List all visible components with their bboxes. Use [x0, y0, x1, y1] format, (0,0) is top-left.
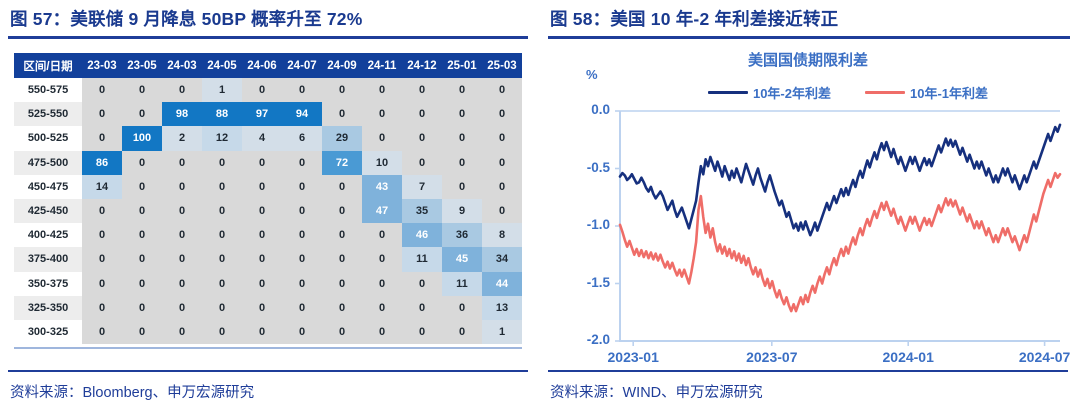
table-column-header: 24-07: [282, 53, 322, 78]
table-cell: 0: [242, 151, 282, 175]
table-cell: 0: [402, 272, 442, 296]
table-cell: 0: [482, 102, 522, 126]
figure-57-title-rule: [8, 36, 528, 39]
table-cell: 0: [242, 175, 282, 199]
table-cell: 0: [122, 223, 162, 247]
table-cell: 0: [322, 296, 362, 320]
table-row: 425-4500000000473590: [14, 199, 522, 223]
table-cell: 0: [362, 126, 402, 150]
table-cell: 0: [442, 320, 482, 344]
x-axis-tick-label: 2024-07: [1019, 349, 1070, 365]
table-column-header: 23-05: [122, 53, 162, 78]
table-cell: 0: [322, 199, 362, 223]
table-cell: 0: [242, 296, 282, 320]
y-axis-tick-label: -1.0: [564, 217, 610, 232]
table-cell: 0: [82, 296, 122, 320]
table-row: 475-50086000007210000: [14, 151, 522, 175]
table-cell: 0: [442, 102, 482, 126]
table-cell: 0: [402, 126, 442, 150]
table-cell: 0: [202, 247, 242, 271]
legend-label-series2: 10年-1年利差: [910, 83, 988, 102]
table-cell: 11: [442, 272, 482, 296]
table-cell: 35: [402, 199, 442, 223]
table-cell: 0: [482, 151, 522, 175]
table-cell: 0: [282, 151, 322, 175]
table-cell: 0: [362, 320, 402, 344]
table-cell: 0: [242, 223, 282, 247]
table-row-label: 400-425: [14, 223, 82, 247]
table-cell: 0: [82, 199, 122, 223]
table-cell: 0: [322, 320, 362, 344]
table-cell: 0: [162, 296, 202, 320]
table-cell: 0: [322, 272, 362, 296]
rate-probability-table: 区间/日期23-0323-0524-0324-0524-0624-0724-09…: [14, 53, 522, 344]
table-row-label: 300-325: [14, 320, 82, 344]
table-cell: 0: [202, 272, 242, 296]
table-cell: 0: [282, 223, 322, 247]
table-cell: 0: [362, 296, 402, 320]
table-cell: 0: [122, 272, 162, 296]
table-cell: 0: [242, 320, 282, 344]
table-cell: 0: [282, 247, 322, 271]
table-cell: 14: [82, 175, 122, 199]
table-body: 550-57500010000000525-550009888979400000…: [14, 78, 522, 344]
table-cell: 0: [122, 320, 162, 344]
table-cell: 0: [442, 126, 482, 150]
table-cell: 0: [482, 199, 522, 223]
chart-axes: [615, 111, 1060, 346]
table-cell: 0: [122, 102, 162, 126]
table-row-label: 375-400: [14, 247, 82, 271]
table-cell: 0: [362, 272, 402, 296]
chart-title: 美国国债期限利差: [548, 49, 1068, 70]
table-cell: 0: [322, 78, 362, 102]
y-axis-unit-label: %: [586, 67, 598, 82]
table-row: 500-525010021246290000: [14, 126, 522, 150]
table-row: 375-40000000000114534: [14, 247, 522, 271]
table-cell: 47: [362, 199, 402, 223]
table-cell: 0: [362, 102, 402, 126]
table-cell: 8: [482, 223, 522, 247]
table-cell: 1: [482, 320, 522, 344]
table-cell: 94: [282, 102, 322, 126]
table-cell: 0: [162, 175, 202, 199]
table-row: 450-4751400000043700: [14, 175, 522, 199]
legend-item-series2: 10年-1年利差: [865, 83, 988, 102]
legend-swatch-series2: [865, 91, 905, 94]
table-cell: 0: [122, 175, 162, 199]
table-cell: 0: [82, 102, 122, 126]
table-cell: 0: [362, 247, 402, 271]
table-cell: 0: [242, 78, 282, 102]
table-cell: 0: [402, 151, 442, 175]
table-cell: 4: [242, 126, 282, 150]
table-cell: 0: [162, 320, 202, 344]
table-header-row: 区间/日期23-0323-0524-0324-0524-0624-0724-09…: [14, 53, 522, 78]
table-cell: 0: [482, 175, 522, 199]
table-cell: 0: [162, 247, 202, 271]
table-cell: 0: [482, 126, 522, 150]
table-row: 350-3750000000001144: [14, 272, 522, 296]
y-axis-tick-label: -2.0: [564, 332, 610, 347]
figure-58-source: 资料来源：WIND、申万宏源研究: [550, 381, 763, 402]
table-row: 525-550009888979400000: [14, 102, 522, 126]
table-column-header: 24-06: [242, 53, 282, 78]
legend-item-series1: 10年-2年利差: [708, 83, 831, 102]
figure-58-caption: 图 58：美国 10 年-2 年利差接近转正: [548, 0, 1070, 36]
table-cell: 0: [82, 247, 122, 271]
table-row-label: 525-550: [14, 102, 82, 126]
table-row: 325-350000000000013: [14, 296, 522, 320]
table-cell: 0: [402, 320, 442, 344]
table-cell: 0: [162, 272, 202, 296]
table-row: 550-57500010000000: [14, 78, 522, 102]
x-axis-tick-label: 2023-07: [746, 349, 797, 365]
table-column-header: 24-11: [362, 53, 402, 78]
table-cell: 72: [322, 151, 362, 175]
figure-57-source: 资料来源：Bloomberg、申万宏源研究: [10, 381, 254, 402]
table-cell: 0: [442, 175, 482, 199]
table-cell: 44: [482, 272, 522, 296]
legend-swatch-series1: [708, 91, 748, 94]
table-cell: 0: [82, 126, 122, 150]
table-cell: 0: [122, 78, 162, 102]
table-cell: 0: [402, 102, 442, 126]
table-cell: 29: [322, 126, 362, 150]
table-bottom-rule: [14, 347, 522, 349]
table-cell: 0: [162, 199, 202, 223]
table-cell: 0: [282, 175, 322, 199]
y-axis-tick-label: -0.5: [564, 160, 610, 175]
table-cell: 36: [442, 223, 482, 247]
table-row: 400-4250000000046368: [14, 223, 522, 247]
table-cell: 0: [202, 175, 242, 199]
table-row-label: 550-575: [14, 78, 82, 102]
table-cell: 0: [282, 320, 322, 344]
x-axis-tick-label: 2024-01: [882, 349, 933, 365]
figure-58-panel: 图 58：美国 10 年-2 年利差接近转正 美国国债期限利差 % 10年-2年…: [540, 0, 1080, 410]
table-cell: 2: [162, 126, 202, 150]
table-cell: 12: [202, 126, 242, 150]
table-cell: 0: [202, 320, 242, 344]
table-row-label: 425-450: [14, 199, 82, 223]
table-column-header: 24-03: [162, 53, 202, 78]
table-row: 300-32500000000001: [14, 320, 522, 344]
table-cell: 0: [322, 175, 362, 199]
table-cell: 0: [202, 151, 242, 175]
table-cell: 0: [282, 78, 322, 102]
table-cell: 0: [482, 78, 522, 102]
table-cell: 100: [122, 126, 162, 150]
table-cell: 13: [482, 296, 522, 320]
table-cell: 98: [162, 102, 202, 126]
table-column-header: 24-05: [202, 53, 242, 78]
table-cell: 7: [402, 175, 442, 199]
figure-57-caption: 图 57：美联储 9 月降息 50BP 概率升至 72%: [8, 0, 528, 36]
table-row-label: 475-500: [14, 151, 82, 175]
table-cell: 45: [442, 247, 482, 271]
chart-legend: 10年-2年利差 10年-1年利差: [640, 83, 1056, 102]
table-cell: 43: [362, 175, 402, 199]
table-row-label: 350-375: [14, 272, 82, 296]
table-cell: 11: [402, 247, 442, 271]
table-cell: 0: [362, 223, 402, 247]
table-cell: 0: [162, 151, 202, 175]
table-cell: 0: [202, 223, 242, 247]
figure-pair-page: 图 57：美联储 9 月降息 50BP 概率升至 72% 区间/日期23-032…: [0, 0, 1080, 410]
table-row-label: 450-475: [14, 175, 82, 199]
table-cell: 97: [242, 102, 282, 126]
table-cell: 34: [482, 247, 522, 271]
table-cell: 0: [202, 296, 242, 320]
table-cell: 46: [402, 223, 442, 247]
table-cell: 0: [322, 102, 362, 126]
table-cell: 88: [202, 102, 242, 126]
y-axis-tick-label: -1.5: [564, 275, 610, 290]
table-cell: 0: [122, 151, 162, 175]
table-header: 区间/日期23-0323-0524-0324-0524-0624-0724-09…: [14, 53, 522, 78]
table-cell: 0: [282, 272, 322, 296]
table-cell: 0: [362, 78, 402, 102]
series-line-10y-2y: [620, 125, 1060, 235]
table-cell: 9: [442, 199, 482, 223]
table-cell: 10: [362, 151, 402, 175]
table-row-label: 325-350: [14, 296, 82, 320]
table-cell: 1: [202, 78, 242, 102]
table-cell: 0: [82, 223, 122, 247]
table-cell: 0: [402, 296, 442, 320]
rate-probability-table-wrap: 区间/日期23-0323-0524-0324-0524-0624-0724-09…: [14, 53, 524, 344]
table-cell: 0: [242, 199, 282, 223]
table-column-header: 24-09: [322, 53, 362, 78]
table-column-header: 23-03: [82, 53, 122, 78]
table-cell: 6: [282, 126, 322, 150]
table-cell: 0: [242, 247, 282, 271]
table-cell: 0: [322, 223, 362, 247]
chart-plot-area: [620, 111, 1060, 341]
table-corner-header: 区间/日期: [14, 53, 82, 78]
figure-57-panel: 图 57：美联储 9 月降息 50BP 概率升至 72% 区间/日期23-032…: [0, 0, 540, 410]
table-cell: 0: [322, 247, 362, 271]
table-cell: 0: [442, 296, 482, 320]
x-axis-tick-label: 2023-01: [607, 349, 658, 365]
figure-57-footer-rule: [8, 370, 528, 373]
table-cell: 0: [82, 320, 122, 344]
table-cell: 0: [122, 247, 162, 271]
table-cell: 0: [442, 78, 482, 102]
table-row-label: 500-525: [14, 126, 82, 150]
table-column-header: 24-12: [402, 53, 442, 78]
table-cell: 0: [82, 78, 122, 102]
table-cell: 0: [402, 78, 442, 102]
table-column-header: 25-03: [482, 53, 522, 78]
yield-spread-chart: 美国国债期限利差 % 10年-2年利差 10年-1年利差: [548, 45, 1068, 365]
legend-label-series1: 10年-2年利差: [753, 83, 831, 102]
table-cell: 86: [82, 151, 122, 175]
table-cell: 0: [122, 199, 162, 223]
table-cell: 0: [82, 272, 122, 296]
table-cell: 0: [282, 199, 322, 223]
table-cell: 0: [242, 272, 282, 296]
table-cell: 0: [282, 296, 322, 320]
table-cell: 0: [162, 223, 202, 247]
table-cell: 0: [162, 78, 202, 102]
table-cell: 0: [122, 296, 162, 320]
y-axis-tick-label: 0.0: [564, 102, 610, 117]
figure-58-footer-rule: [548, 370, 1068, 373]
table-cell: 0: [202, 199, 242, 223]
table-column-header: 25-01: [442, 53, 482, 78]
table-cell: 0: [442, 151, 482, 175]
chart-svg: [620, 111, 1060, 341]
figure-58-title-rule: [548, 36, 1070, 39]
